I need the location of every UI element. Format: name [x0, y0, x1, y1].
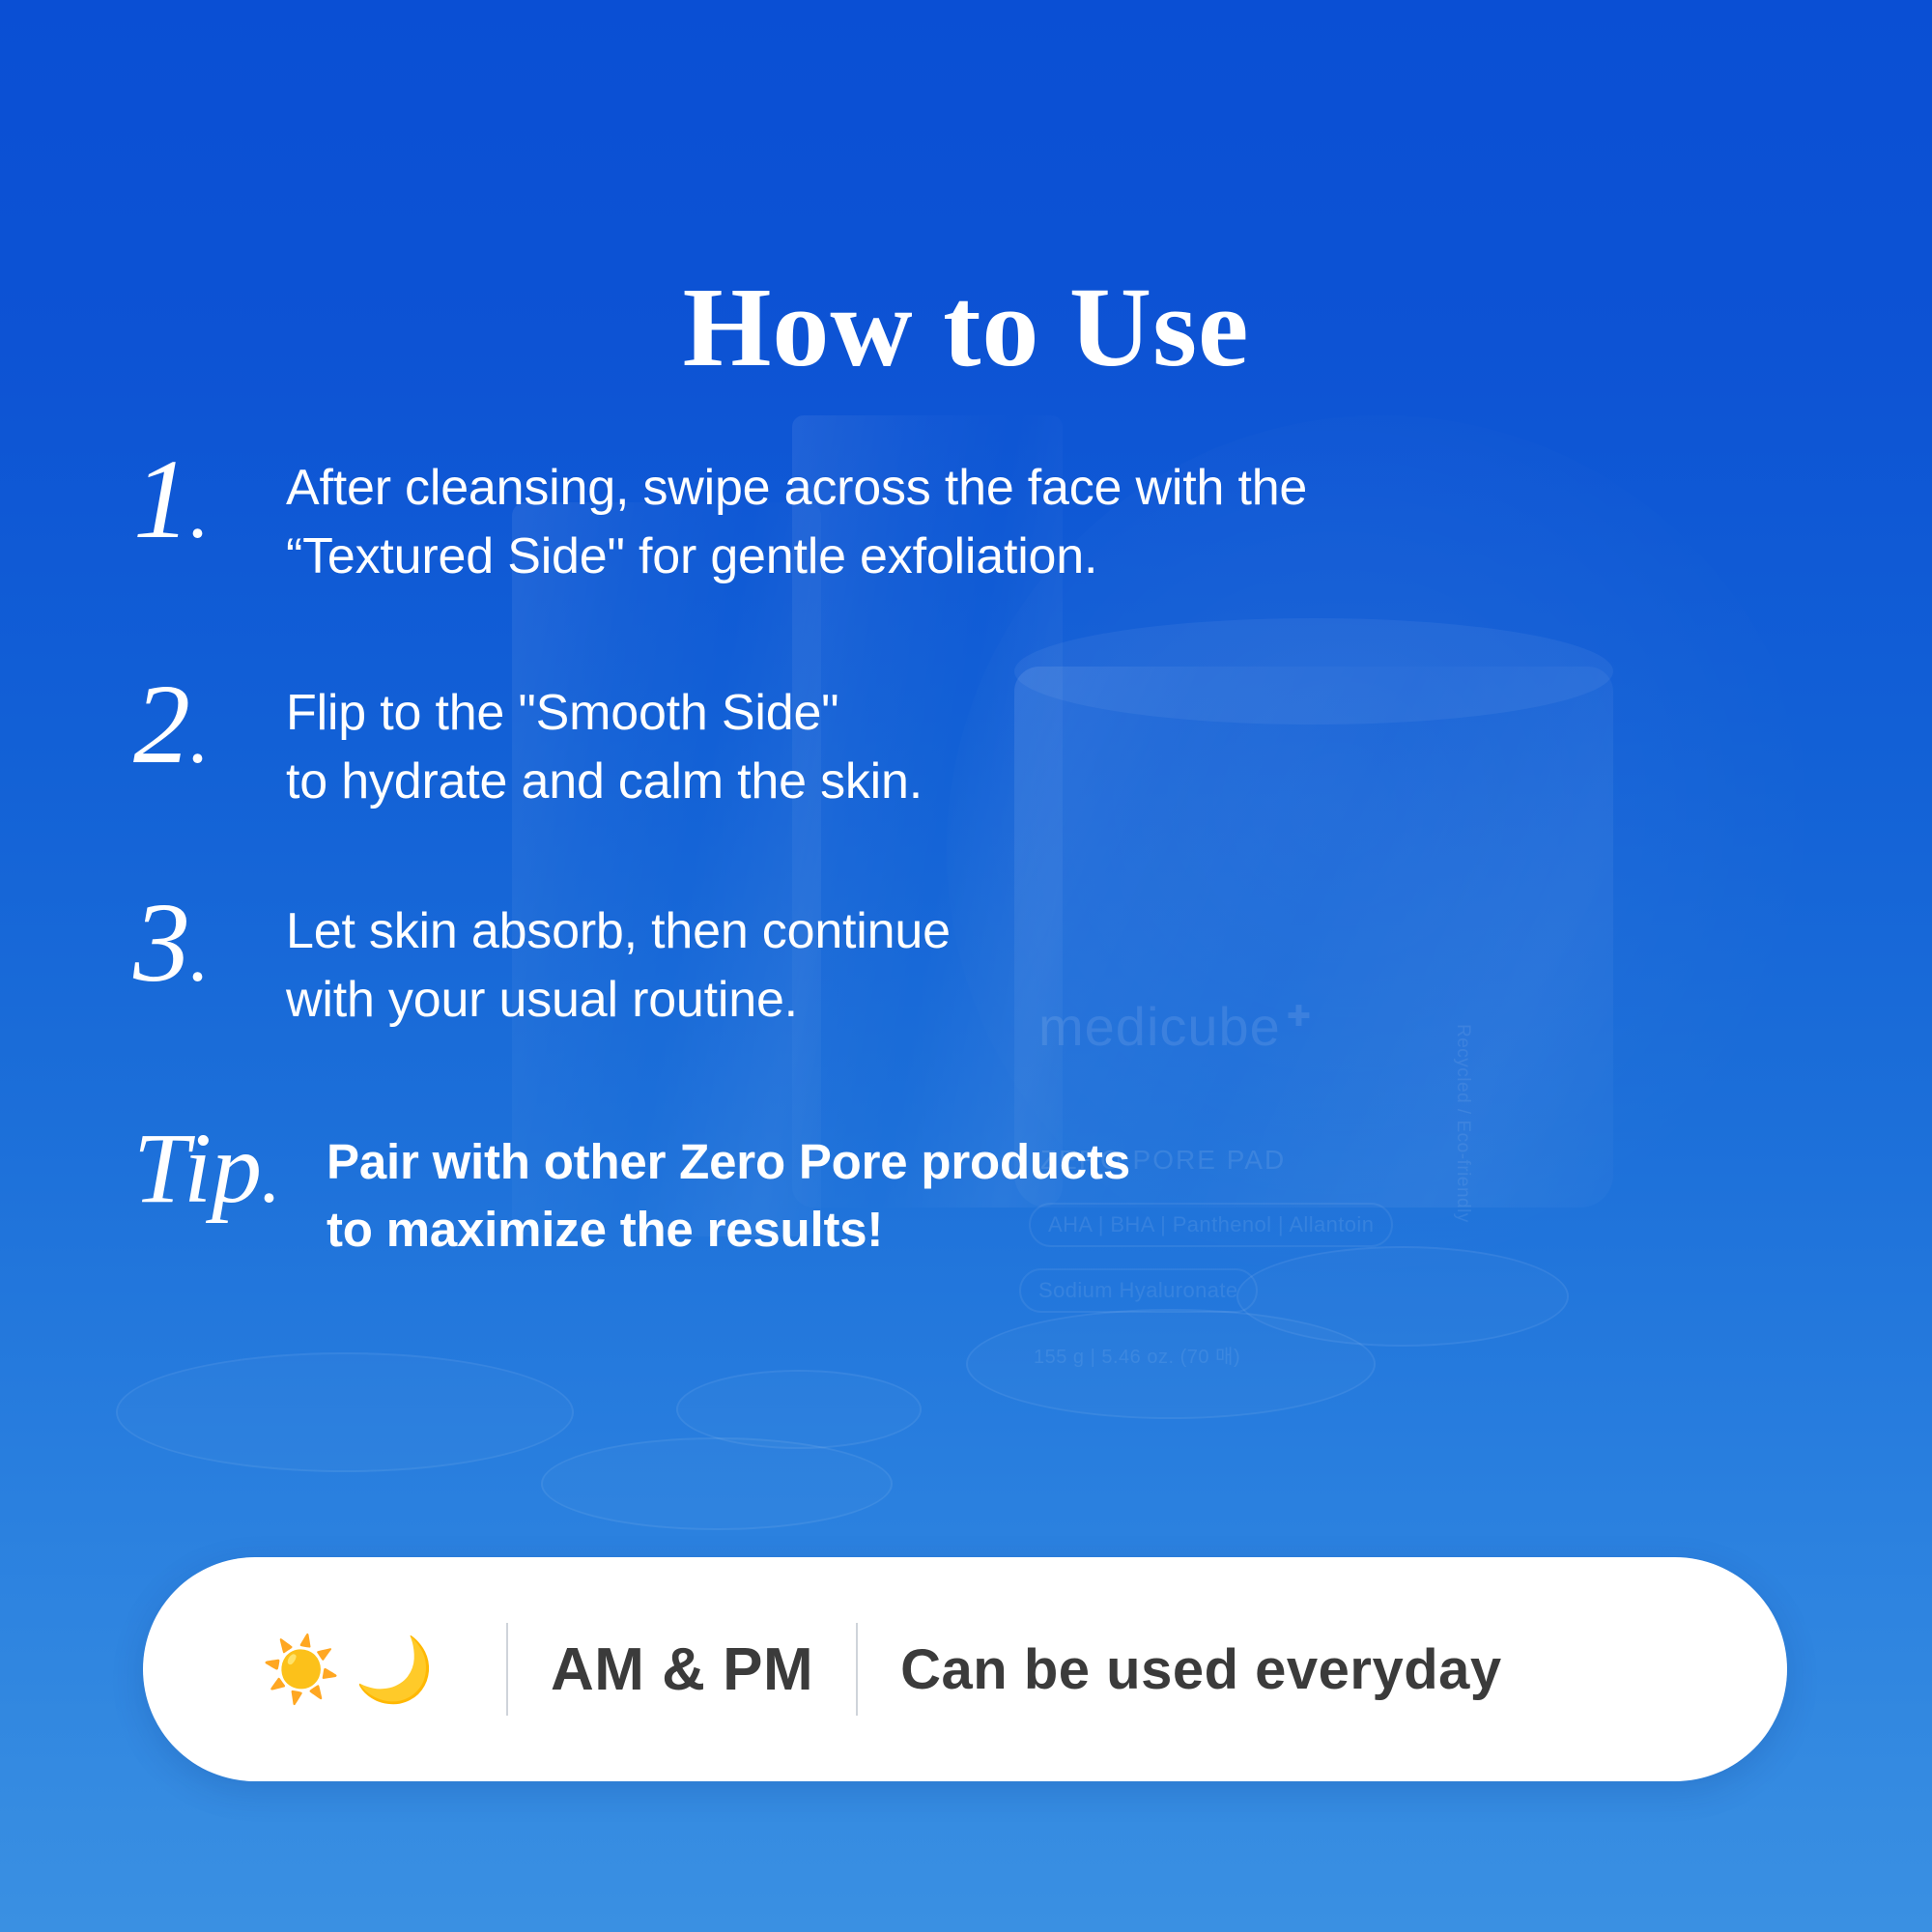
step-number-2: 2 — [133, 661, 190, 787]
page-title: How to Use — [0, 268, 1932, 387]
usage-bar-time-label: AM & PM — [551, 1635, 813, 1704]
sun-icon: ☀️ — [262, 1637, 341, 1701]
tip-dot: . — [262, 1151, 276, 1214]
tip-item: Tip. Pair with other Zero Pore products … — [133, 1105, 1582, 1263]
usage-bar-divider-2 — [856, 1623, 858, 1716]
tip-text-line-1: Pair with other Zero Pore products — [327, 1128, 1582, 1195]
tip-text-line-2: to maximize the results! — [327, 1196, 1582, 1263]
step-number-3: 3 — [133, 879, 190, 1006]
step-marker-1: 1. — [133, 437, 286, 556]
step-number-1: 1 — [133, 436, 190, 562]
usage-bar-inner: ☀️ 🌙 AM & PM Can be used everyday — [232, 1623, 1502, 1716]
step-text-1: After cleansing, swipe across the face w… — [286, 437, 1582, 590]
step-text-1-line-1: After cleansing, swipe across the face w… — [286, 454, 1582, 523]
usage-bar-icons: ☀️ 🌙 — [232, 1637, 464, 1701]
poster-content: How to Use 1. After cleansing, swipe acr… — [0, 0, 1932, 1932]
step-text-3: Let skin absorb, then continue with your… — [286, 880, 1582, 1034]
step-dot-1: . — [190, 486, 205, 550]
step-text-2-line-1: Flip to the "Smooth Side" — [286, 679, 1582, 748]
step-item-2: 2. Flip to the "Smooth Side" to hydrate … — [133, 662, 1582, 815]
step-marker-3: 3. — [133, 880, 286, 1000]
step-text-1-line-2: “Textured Side" for gentle exfoliation. — [286, 523, 1582, 591]
tip-text: Pair with other Zero Pore products to ma… — [327, 1105, 1582, 1263]
crescent-moon-icon: 🌙 — [355, 1637, 434, 1701]
step-item-1: 1. After cleansing, swipe across the fac… — [133, 437, 1582, 590]
step-text-3-line-2: with your usual routine. — [286, 966, 1582, 1035]
step-text-3-line-1: Let skin absorb, then continue — [286, 897, 1582, 966]
tip-label: Tip — [133, 1113, 262, 1224]
step-item-3: 3. Let skin absorb, then continue with y… — [133, 880, 1582, 1034]
poster-canvas: medicube✚ ZERO PORE PAD AHA | BHA | Pant… — [0, 0, 1932, 1932]
how-to-use-steps: 1. After cleansing, swipe across the fac… — [133, 437, 1582, 1305]
usage-bar-divider-1 — [506, 1623, 508, 1716]
usage-bar-frequency-label: Can be used everyday — [900, 1637, 1502, 1702]
step-dot-3: . — [190, 929, 205, 993]
tip-marker: Tip. — [133, 1105, 327, 1219]
step-text-2: Flip to the "Smooth Side" to hydrate and… — [286, 662, 1582, 815]
step-marker-2: 2. — [133, 662, 286, 781]
step-text-2-line-2: to hydrate and calm the skin. — [286, 748, 1582, 816]
usage-bar: ☀️ 🌙 AM & PM Can be used everyday — [143, 1557, 1787, 1781]
step-dot-2: . — [190, 711, 205, 775]
